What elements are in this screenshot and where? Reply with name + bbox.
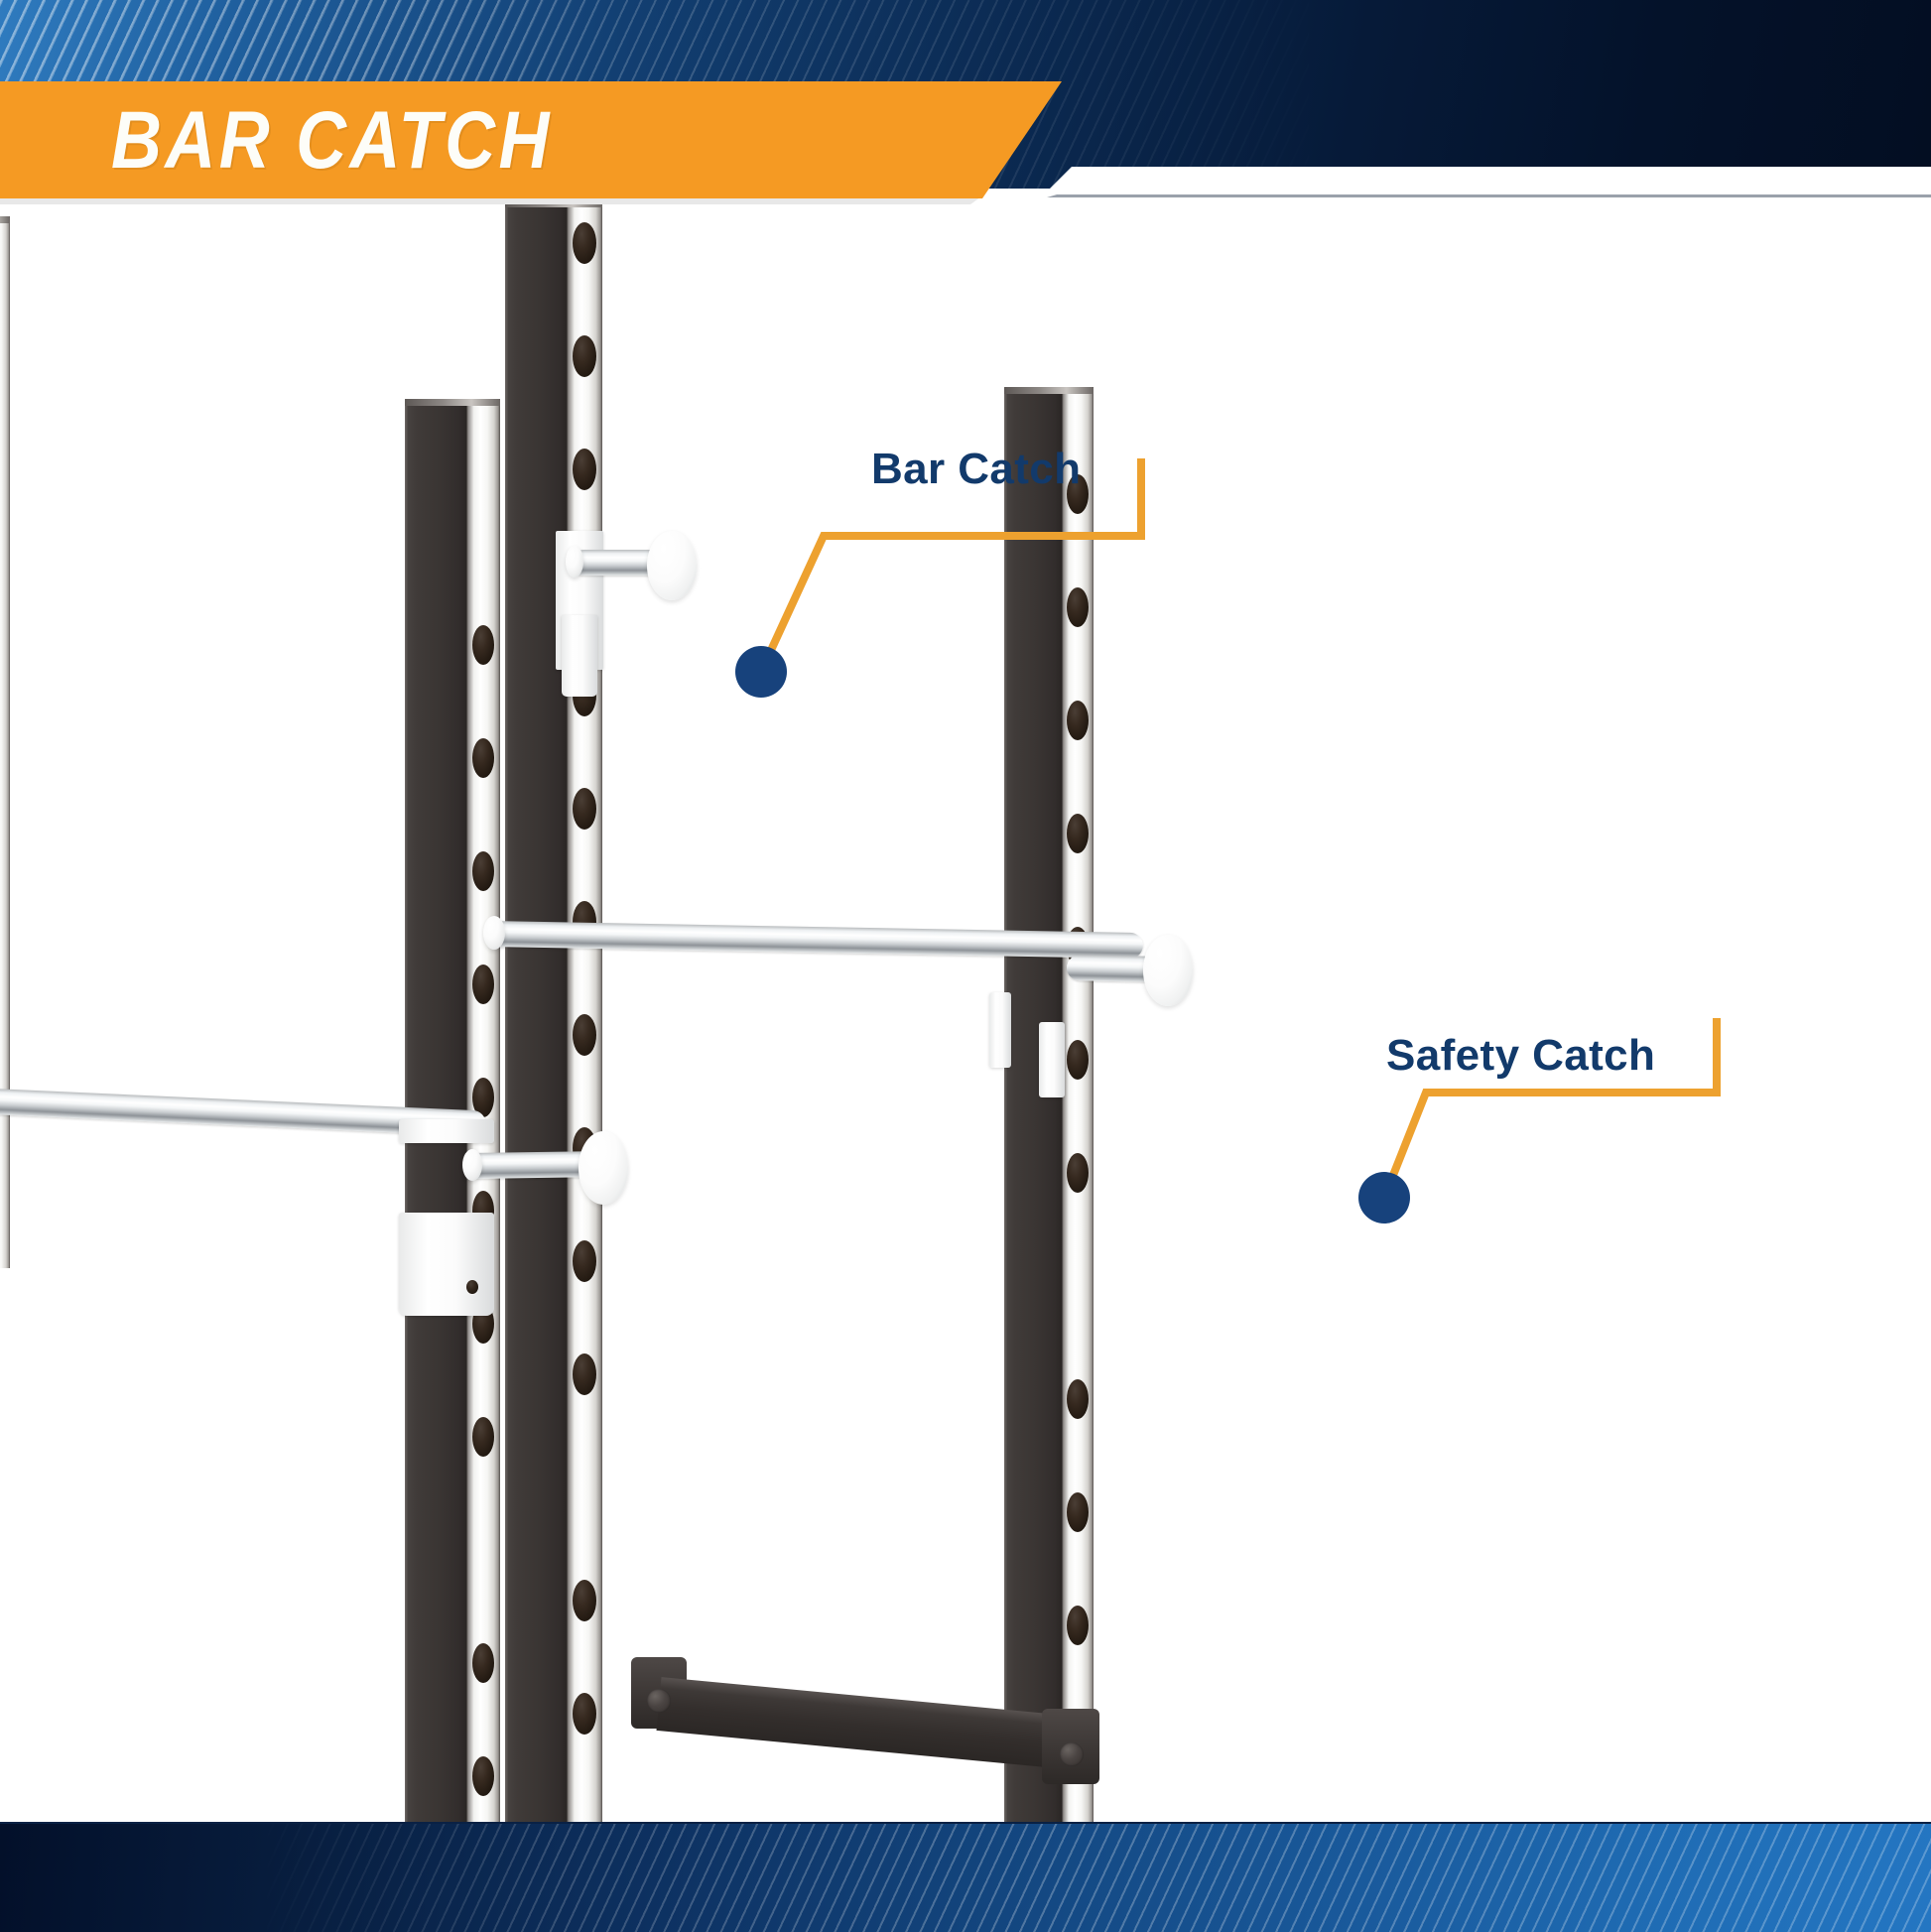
adjustment-hole xyxy=(472,1756,494,1796)
adjustment-hole xyxy=(1067,1492,1089,1532)
safety-bar-left-collar xyxy=(483,916,505,950)
upright-edge-highlight xyxy=(1004,387,1007,1826)
adjustment-hole xyxy=(1067,587,1089,627)
upright-cap xyxy=(0,216,10,223)
callout-label-bar-catch: Bar Catch xyxy=(871,445,1081,494)
j-hook-bolt-hole xyxy=(466,1280,478,1294)
product-photo xyxy=(0,189,1931,1826)
upright-front-face xyxy=(505,200,567,1826)
adjustment-hole xyxy=(472,1417,494,1457)
adjustment-hole xyxy=(573,1693,596,1735)
safety-catch-bracket-right xyxy=(1039,1022,1065,1097)
center-upright xyxy=(505,200,602,1826)
header-accent-rule xyxy=(1047,194,1931,197)
safety-catch-pin-head xyxy=(1143,935,1193,1006)
adjustment-hole xyxy=(1067,1379,1089,1419)
safety-catch-bracket-center xyxy=(989,992,1011,1068)
j-hook-bracket-top xyxy=(399,1119,494,1143)
page-title: BAR CATCH xyxy=(111,93,553,189)
adjustment-hole xyxy=(1067,1606,1089,1645)
adjustment-hole xyxy=(1067,1040,1089,1080)
crossbar-right-bolt xyxy=(1060,1742,1084,1766)
callout-label-safety-catch: Safety Catch xyxy=(1386,1031,1655,1081)
upright-cap xyxy=(1004,387,1094,394)
footer-stripe-pattern xyxy=(258,1824,1931,1932)
adjustment-hole xyxy=(472,1643,494,1683)
bar-catch-bracket-plate xyxy=(562,615,597,697)
footer-band xyxy=(0,1824,1931,1932)
header-stripe-pattern-bright xyxy=(0,0,615,91)
lower-bar-catch-collar xyxy=(462,1149,482,1181)
adjustment-hole xyxy=(573,222,596,264)
upright-cap xyxy=(405,399,500,406)
infographic-canvas: Bar Catch Safety Catch BAR CATCH xyxy=(0,0,1931,1932)
upright-edge-highlight xyxy=(505,200,508,1826)
adjustment-hole xyxy=(573,1240,596,1282)
adjustment-hole xyxy=(1067,1153,1089,1193)
adjustment-hole xyxy=(472,965,494,1004)
adjustment-hole xyxy=(573,1580,596,1621)
bar-catch-pin-head xyxy=(647,531,697,600)
adjustment-hole xyxy=(573,449,596,490)
adjustment-hole xyxy=(1067,701,1089,740)
upright-front-face xyxy=(1004,387,1062,1826)
adjustment-hole xyxy=(573,1014,596,1056)
adjustment-hole xyxy=(1067,814,1089,853)
adjustment-hole xyxy=(472,625,494,665)
adjustment-hole xyxy=(573,788,596,830)
adjustment-hole xyxy=(573,1353,596,1395)
adjustment-hole xyxy=(573,335,596,377)
j-hook-bracket xyxy=(399,1213,494,1316)
bar-catch-pin-collar xyxy=(566,546,583,578)
header-white-wedge xyxy=(1032,167,1931,206)
crossbar-left-bolt xyxy=(647,1689,671,1713)
adjustment-hole xyxy=(472,851,494,891)
lower-bar-catch-pin-head xyxy=(579,1131,628,1205)
right-upright xyxy=(1004,387,1094,1826)
adjustment-hole xyxy=(472,738,494,778)
